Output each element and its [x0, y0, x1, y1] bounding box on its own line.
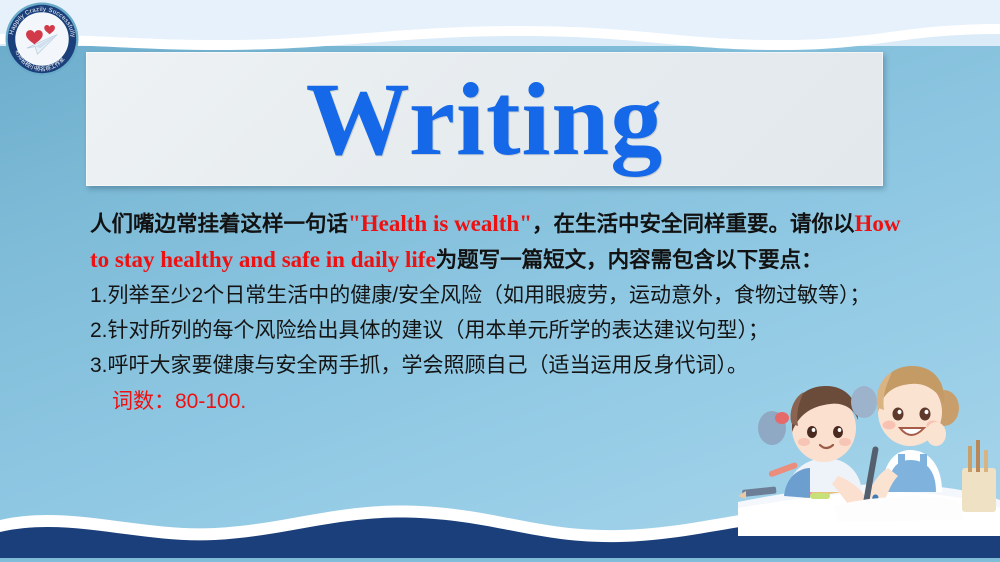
- word-count-note: 词数：80-100.: [90, 383, 920, 421]
- school-logo-badge: Happily Crazily Successfully 名师名校小将名将工作室: [4, 1, 80, 77]
- requirement-item-2: 2.针对所列的每个风险给出具体的建议（用本单元所学的表达建议句型）；: [90, 313, 920, 348]
- prompt-mid-cn: ，在生活中安全同样重要。请你以: [532, 212, 855, 236]
- highlighter-green-icon: [810, 493, 830, 499]
- prompt-lead-cn: 人们嘴边常挂着这样一句话: [90, 212, 348, 236]
- prompt-paragraph: 人们嘴边常挂着这样一句话"Health is wealth"，在生活中安全同样重…: [90, 206, 920, 278]
- requirement-item-1: 1.列举至少2个日常生活中的健康/安全风险（如用眼疲劳，运动意外，食物过敏等）；: [90, 278, 920, 313]
- pen-holder-icon: [962, 440, 996, 512]
- requirement-item-3: 3.呼吁大家要健康与安全两手抓，学会照顾自己（适当运用反身代词）。: [90, 348, 920, 383]
- slide-canvas: Happily Crazily Successfully 名师名校小将名将工作室…: [0, 0, 1000, 562]
- prompt-tail-cn: 为题写一篇短文，内容需包含以下要点：: [436, 248, 823, 272]
- writing-prompt-body: 人们嘴边常挂着这样一句话"Health is wealth"，在生活中安全同样重…: [90, 206, 920, 421]
- prompt-quote-en: "Health is wealth": [348, 211, 532, 236]
- page-title: Writing: [86, 46, 883, 194]
- title-card: Writing: [86, 52, 883, 186]
